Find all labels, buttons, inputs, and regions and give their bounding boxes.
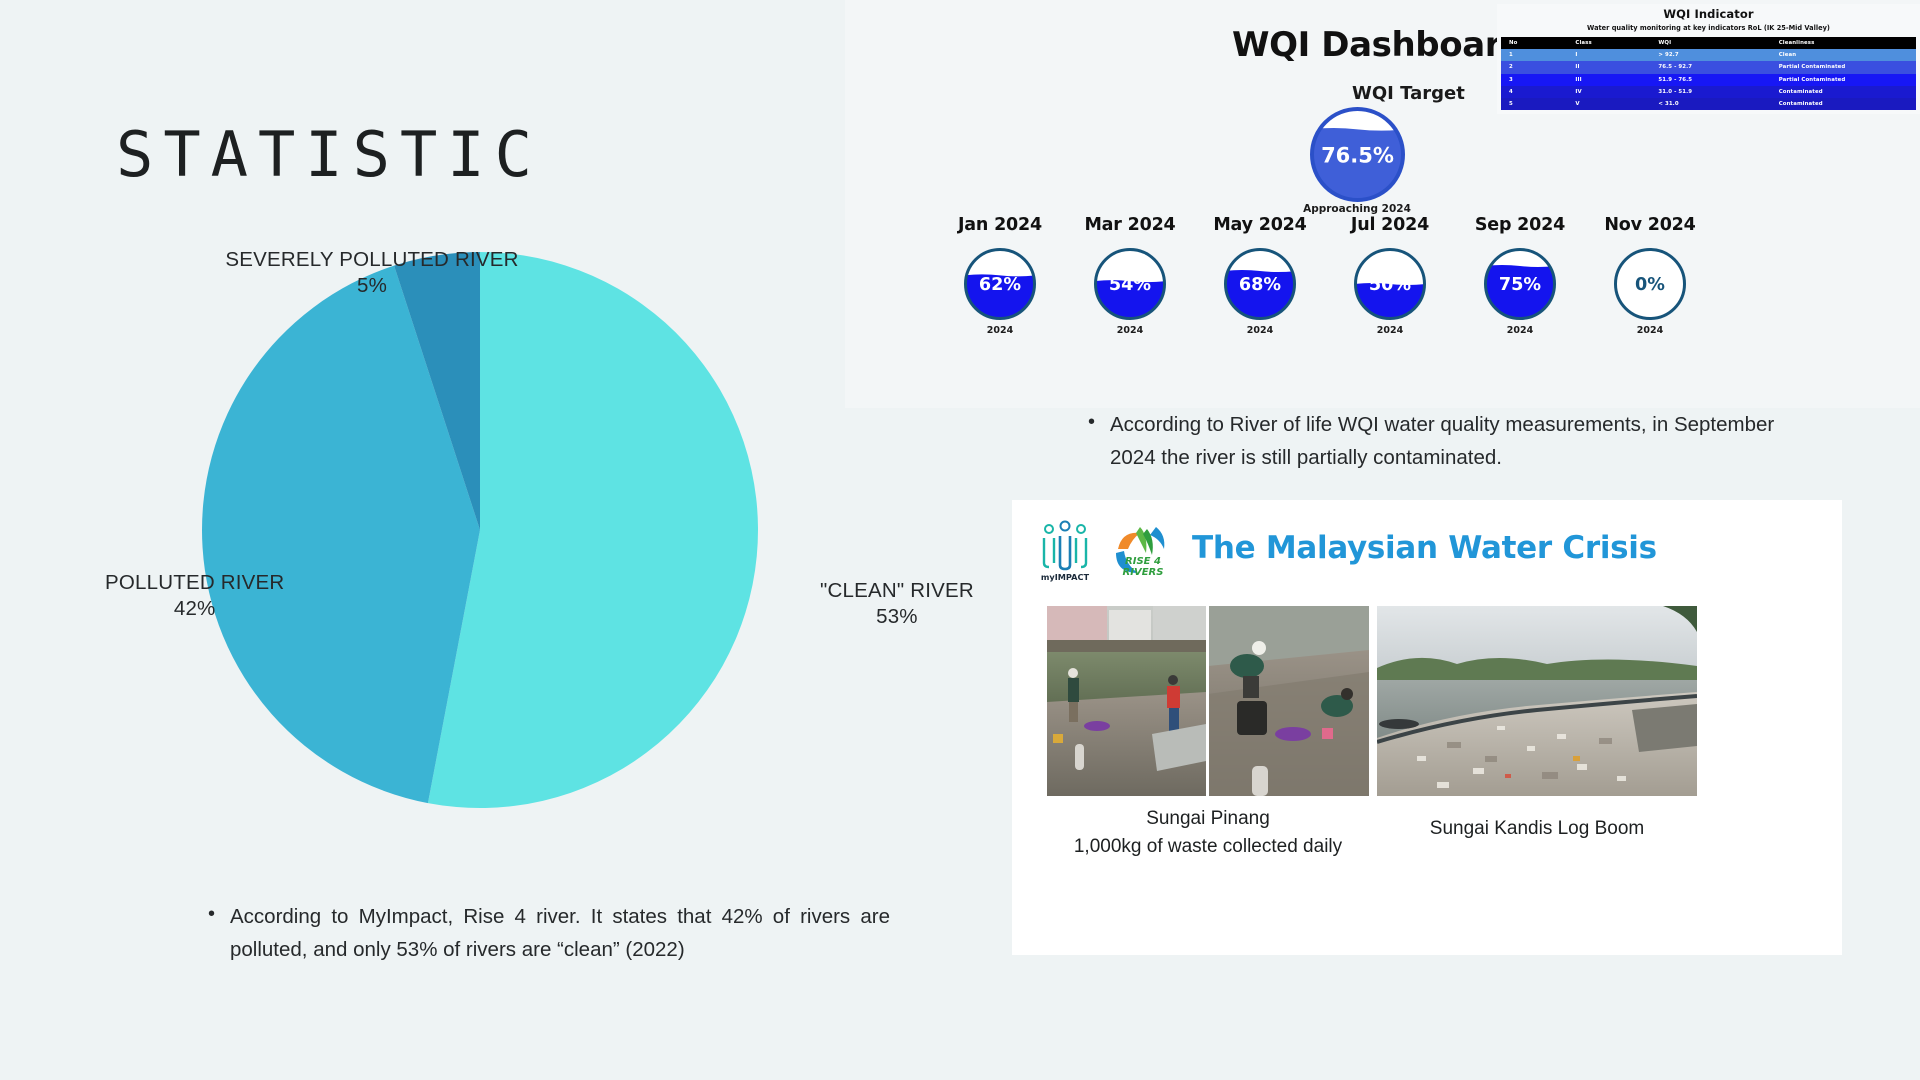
table-header-cell: Cleanliness (1771, 37, 1916, 49)
wqi-dashboard-title: WQI Dashboard (1232, 25, 1525, 65)
pie-label-clean-value: 53% (820, 604, 974, 630)
pie-label-polluted-value: 42% (105, 596, 284, 622)
table-cell: IV (1567, 86, 1650, 98)
gauge-value-label: 76.5% (1321, 144, 1394, 168)
table-cell: Clean (1771, 49, 1916, 61)
wqi-target-gauge: 76.5% (1310, 107, 1405, 202)
table-cell: 1 (1501, 49, 1567, 61)
table-header-row: NoClassWQICleanliness (1501, 37, 1916, 49)
bullet-dot-icon: • (208, 898, 215, 930)
svg-text:RIVERS: RIVERS (1123, 567, 1164, 578)
table-cell: 2 (1501, 61, 1567, 73)
svg-text:RISE 4: RISE 4 (1125, 556, 1161, 567)
month-gauge-holder: 54% (1094, 248, 1166, 320)
left-bullet-text: • According to MyImpact, Rise 4 river. I… (230, 900, 890, 966)
table-cell: Contaminated (1771, 98, 1916, 110)
table-cell: 4 (1501, 86, 1567, 98)
month-gauge-jul-2024: Jul 202450%2024 (1315, 215, 1465, 336)
photo-sungai-pinang-image (1047, 606, 1369, 796)
page-title: STATISTIC (116, 118, 542, 191)
table-body: 1I> 92.7Clean2II76.5 - 92.7Partial Conta… (1501, 49, 1916, 110)
gauge-value-label: 54% (1109, 275, 1152, 295)
month-gauge-holder: 50% (1354, 248, 1426, 320)
gauge-value-label: 75% (1499, 275, 1542, 295)
month-gauge-holder: 68% (1224, 248, 1296, 320)
table-cell: II (1567, 61, 1650, 73)
month-name-label: Mar 2024 (1055, 215, 1205, 235)
table-header-cell: Class (1567, 37, 1650, 49)
table-row: 5V< 31.0Contaminated (1501, 98, 1916, 110)
gauge-value-label: 62% (979, 275, 1022, 295)
month-year-label: 2024 (1185, 325, 1335, 336)
wqi-indicator-table: NoClassWQICleanliness 1I> 92.7Clean2II76… (1501, 37, 1916, 110)
photo-sungai-pinang (1047, 606, 1369, 796)
wqi-indicator-subtitle: Water quality monitoring at key indicato… (1497, 24, 1920, 32)
table-cell: I (1567, 49, 1650, 61)
month-name-label: Jan 2024 (925, 215, 1075, 235)
rise4rivers-logo-icon: RISE 4 RIVERS (1110, 519, 1172, 581)
table-row: 3III51.9 - 76.5Partial Contaminated (1501, 74, 1916, 86)
pie-label-severely-polluted-name: SEVERELY POLLUTED RIVER (225, 247, 518, 273)
liquid-gauge: 62% (964, 248, 1036, 320)
month-year-label: 2024 (1445, 325, 1595, 336)
table-row: 2II76.5 - 92.7Partial Contaminated (1501, 61, 1916, 73)
gauge-value-label: 0% (1635, 275, 1665, 295)
month-gauge-may-2024: May 202468%2024 (1185, 215, 1335, 336)
table-cell: III (1567, 74, 1650, 86)
bullet-dot-icon: • (1088, 406, 1095, 438)
myimpact-logo-label: myIMPACT (1041, 572, 1089, 582)
liquid-gauge: 75% (1484, 248, 1556, 320)
caption-sungai-pinang-line1: Sungai Pinang (1074, 805, 1342, 833)
pie-label-polluted-name: POLLUTED RIVER (105, 570, 284, 596)
liquid-gauge: 0% (1614, 248, 1686, 320)
crisis-title: The Malaysian Water Crisis (1192, 530, 1657, 566)
water-crisis-card: myIMPACT RISE 4 RIVERS The Malaysian Wat… (1012, 500, 1842, 955)
wqi-indicator-card: WQI Indicator Water quality monitoring a… (1497, 4, 1920, 114)
table-cell: 31.0 - 51.9 (1650, 86, 1770, 98)
table-row: 1I> 92.7Clean (1501, 49, 1916, 61)
liquid-gauge: 76.5% (1310, 107, 1405, 202)
caption-sungai-kandis-line1: Sungai Kandis Log Boom (1430, 815, 1644, 843)
liquid-gauge: 50% (1354, 248, 1426, 320)
table-row: 4IV31.0 - 51.9Contaminated (1501, 86, 1916, 98)
month-year-label: 2024 (925, 325, 1075, 336)
month-name-label: Sep 2024 (1445, 215, 1595, 235)
table-cell: 51.9 - 76.5 (1650, 74, 1770, 86)
photo-sungai-kandis-image (1377, 606, 1697, 796)
month-gauge-holder: 0% (1614, 248, 1686, 320)
pie-label-severely-polluted-value: 5% (225, 273, 518, 299)
pie-label-clean-name: "CLEAN" RIVER (820, 578, 974, 604)
month-name-label: Nov 2024 (1575, 215, 1725, 235)
logo-group: myIMPACT RISE 4 RIVERS (1034, 519, 1172, 581)
table-header-cell: No (1501, 37, 1567, 49)
table-cell: Partial Contaminated (1771, 74, 1916, 86)
month-gauge-nov-2024: Nov 20240%2024 (1575, 215, 1725, 336)
month-year-label: 2024 (1315, 325, 1465, 336)
wqi-target-caption: Approaching 2024 (1303, 203, 1411, 215)
liquid-gauge: 54% (1094, 248, 1166, 320)
table-cell: Contaminated (1771, 86, 1916, 98)
table-cell: V (1567, 98, 1650, 110)
rise4rivers-logo: RISE 4 RIVERS (1110, 519, 1172, 581)
photo-sungai-kandis (1377, 606, 1697, 796)
caption-sungai-pinang-line2: 1,000kg of waste collected daily (1074, 833, 1342, 861)
month-name-label: Jul 2024 (1315, 215, 1465, 235)
month-year-label: 2024 (1055, 325, 1205, 336)
month-gauge-sep-2024: Sep 202475%2024 (1445, 215, 1595, 336)
month-gauge-mar-2024: Mar 202454%2024 (1055, 215, 1205, 336)
left-bullet-label: According to MyImpact, Rise 4 river. It … (230, 905, 890, 961)
pie-chart (200, 250, 760, 810)
month-gauge-jan-2024: Jan 202462%2024 (925, 215, 1075, 336)
gauge-value-label: 68% (1239, 275, 1282, 295)
pie-label-severely-polluted: SEVERELY POLLUTED RIVER 5% (225, 247, 518, 299)
month-year-label: 2024 (1575, 325, 1725, 336)
wqi-target-label: WQI Target (1352, 83, 1465, 104)
table-cell: 5 (1501, 98, 1567, 110)
wqi-indicator-title: WQI Indicator (1497, 4, 1920, 21)
table-cell: 3 (1501, 74, 1567, 86)
pie-chart-svg (200, 250, 760, 810)
month-name-label: May 2024 (1185, 215, 1335, 235)
dashboard-bullet-text: • According to River of life WQI water q… (1110, 408, 1810, 474)
dashboard-bullet-label: According to River of life WQI water qua… (1110, 413, 1774, 469)
month-gauge-holder: 75% (1484, 248, 1556, 320)
gauge-value-label: 50% (1369, 275, 1412, 295)
table-cell: > 92.7 (1650, 49, 1770, 61)
table-cell: Partial Contaminated (1771, 61, 1916, 73)
liquid-gauge: 68% (1224, 248, 1296, 320)
pie-label-clean: "CLEAN" RIVER 53% (820, 578, 974, 630)
caption-sungai-kandis: Sungai Kandis Log Boom (1430, 815, 1644, 843)
myimpact-logo: myIMPACT (1034, 519, 1096, 581)
table-cell: < 31.0 (1650, 98, 1770, 110)
month-gauge-holder: 62% (964, 248, 1036, 320)
pie-label-polluted: POLLUTED RIVER 42% (105, 570, 284, 622)
caption-sungai-pinang: Sungai Pinang 1,000kg of waste collected… (1074, 805, 1342, 860)
table-header-cell: WQI (1650, 37, 1770, 49)
table-cell: 76.5 - 92.7 (1650, 61, 1770, 73)
